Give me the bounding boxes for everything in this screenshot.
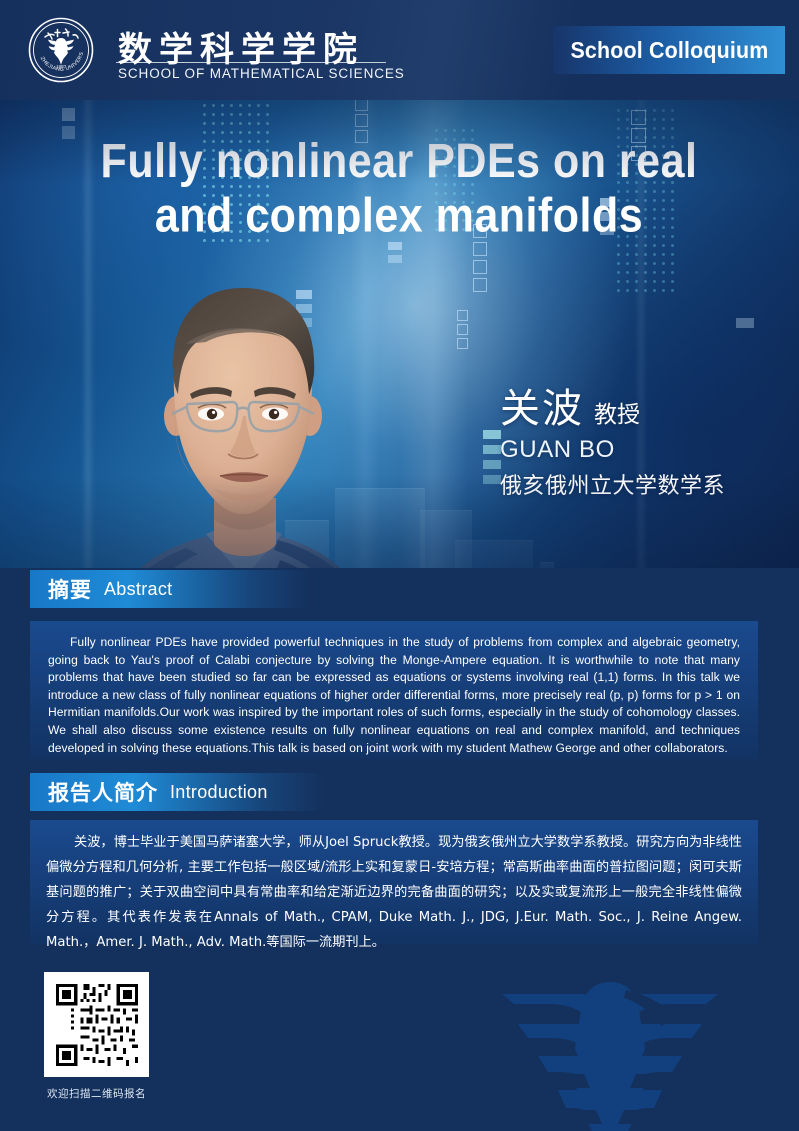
speaker-name-en: GUAN BO	[500, 436, 790, 464]
abstract-box: Fully nonlinear PDEs have provided power…	[30, 621, 758, 759]
speaker-affiliation: 俄亥俄州立大学数学系	[500, 468, 790, 500]
abstract-body: Fully nonlinear PDEs have provided power…	[30, 621, 758, 770]
introduction-heading-en: Introduction	[170, 782, 268, 803]
introduction-heading-cn: 报告人简介	[48, 777, 158, 807]
poster-header: 1897 ZHEJIANG UNIVERSITY 数学科学学院 SCHOOL O…	[0, 0, 799, 100]
tech-square	[388, 255, 402, 263]
speaker-info: 关波 教授 GUAN BO 俄亥俄州立大学数学系	[500, 376, 790, 500]
glass-bar	[455, 540, 533, 568]
zju-seal-icon: 1897 ZHEJIANG UNIVERSITY	[28, 17, 94, 83]
tech-square	[62, 108, 75, 121]
tech-square-outline	[473, 242, 487, 256]
eagle-wing-icon	[430, 968, 790, 1131]
tech-square	[736, 318, 754, 328]
introduction-body: 关波，博士毕业于美国马萨诸塞大学，师从Joel Spruck教授。现为俄亥俄州立…	[30, 820, 758, 965]
tech-square-outline	[457, 338, 468, 349]
hero-banner: Fully nonlinear PDEs on real and complex…	[0, 100, 799, 568]
qr-caption: 欢迎扫描二维码报名	[44, 1086, 149, 1101]
poster-title: Fully nonlinear PDEs on real and complex…	[0, 122, 799, 234]
tech-square-outline	[457, 324, 468, 335]
tech-square-outline	[473, 260, 487, 274]
colloquium-badge-label: School Colloquium	[570, 37, 768, 64]
tech-square-outline	[457, 310, 468, 321]
tech-square	[388, 242, 402, 250]
school-name-en: SCHOOL OF MATHEMATICAL SCIENCES	[118, 66, 405, 81]
tech-square-outline	[473, 278, 487, 292]
school-name-cn: 数学科学学院	[118, 22, 364, 71]
poster-root: 1897 ZHEJIANG UNIVERSITY 数学科学学院 SCHOOL O…	[0, 0, 799, 1131]
glass-bar	[540, 562, 554, 568]
abstract-section-header: 摘要 Abstract	[30, 570, 312, 608]
tech-tick-bars	[483, 430, 501, 490]
speaker-portrait	[128, 248, 390, 568]
speaker-name-cn: 关波	[500, 376, 584, 434]
introduction-box: 关波，博士毕业于美国马萨诸塞大学，师从Joel Spruck教授。现为俄亥俄州立…	[30, 820, 758, 944]
tech-square-outline	[355, 100, 368, 111]
svg-text:and complex manifolds: and complex manifolds	[155, 189, 643, 234]
registration-qr: 欢迎扫描二维码报名	[44, 972, 149, 1101]
abstract-heading-en: Abstract	[104, 579, 172, 600]
colloquium-badge: School Colloquium	[553, 26, 785, 74]
qr-code-icon[interactable]	[44, 972, 149, 1077]
speaker-title-cn: 教授	[594, 395, 640, 429]
introduction-section-header: 报告人简介 Introduction	[30, 773, 326, 811]
school-name-divider	[116, 62, 386, 63]
svg-text:Fully nonlinear PDEs on real: Fully nonlinear PDEs on real	[101, 134, 698, 188]
abstract-heading-cn: 摘要	[48, 574, 92, 604]
